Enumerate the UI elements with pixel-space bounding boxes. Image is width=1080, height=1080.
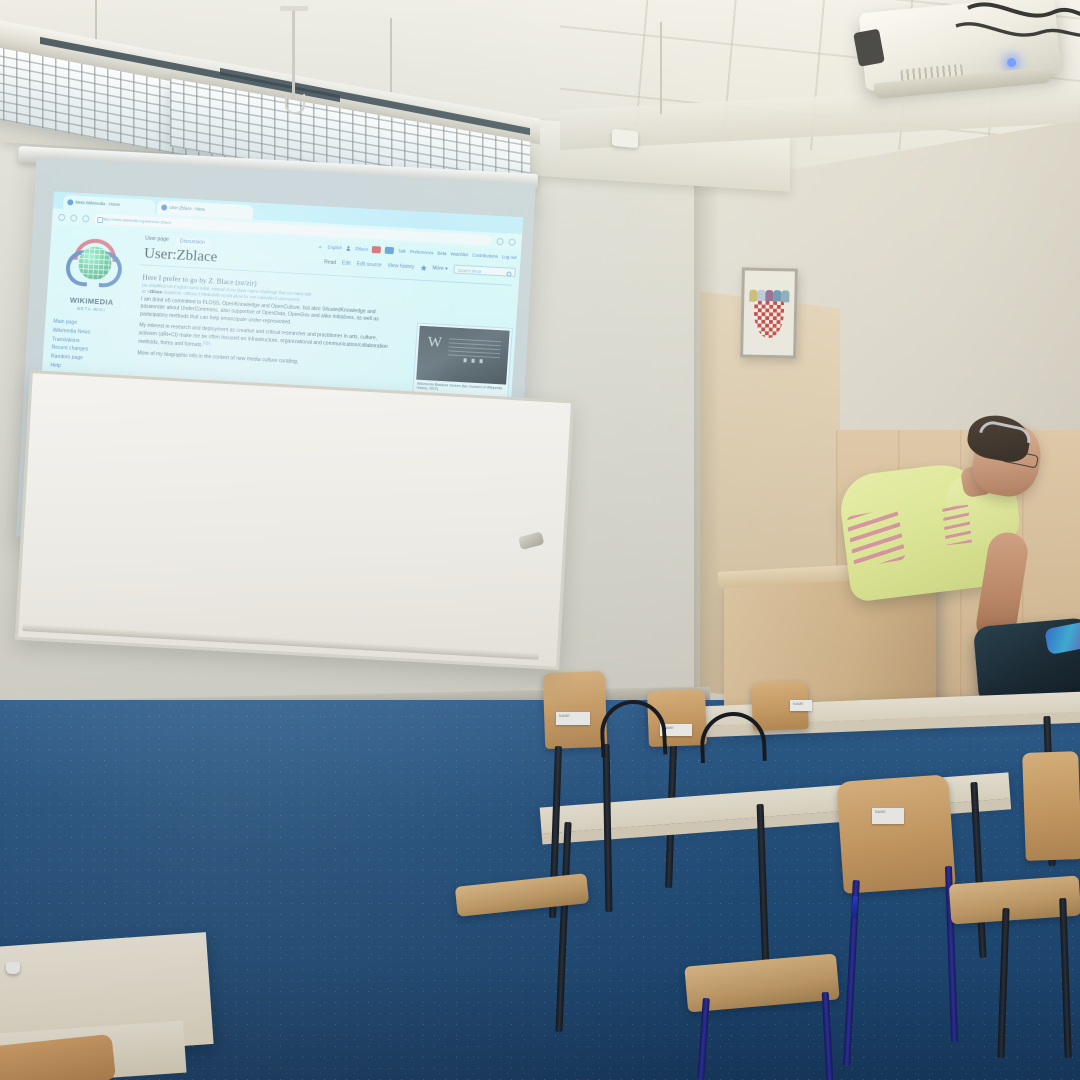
checkerboard-shield: [753, 301, 784, 339]
chair-back-front[interactable]: [836, 774, 956, 894]
chair-name-card-text: NAME: [556, 712, 590, 718]
reference-superscript[interactable]: [1][2]: [203, 341, 211, 345]
light-hanger-wire: [660, 22, 662, 114]
svg-text:A: A: [318, 244, 321, 249]
blackout-text-lines: [448, 337, 501, 358]
language-icon: A: [318, 244, 323, 249]
personal-link-beta[interactable]: Beta: [437, 251, 446, 256]
tab-read[interactable]: Read: [324, 259, 336, 266]
tab-more[interactable]: More ▾: [432, 265, 448, 272]
search-placeholder-text: Search Meta: [457, 268, 481, 274]
backpack-color-panel: [1044, 621, 1080, 655]
chair-name-card: NAME: [872, 808, 904, 824]
tab-edit-source[interactable]: Edit source: [356, 261, 381, 268]
chair-name-card-text: NAME: [790, 700, 812, 706]
tab-edit[interactable]: Edit: [342, 260, 351, 266]
user-avatar-icon: [346, 246, 351, 251]
blackout-dots: [463, 358, 487, 363]
tab-view-history[interactable]: View history: [387, 262, 414, 269]
chair-back[interactable]: [543, 671, 608, 749]
personal-link-username[interactable]: Zblace: [355, 246, 369, 252]
chair-name-card-text: NAME: [872, 808, 904, 814]
reload-icon[interactable]: [82, 215, 89, 222]
tab-user-page[interactable]: User page: [145, 236, 169, 245]
projector-lens: [853, 29, 885, 67]
chair-name-card: NAME: [790, 700, 812, 711]
watch-star-icon[interactable]: [420, 264, 426, 270]
whiteboard: [15, 370, 574, 670]
whiteboard-eraser: [518, 531, 545, 550]
notifications-notice-icon[interactable]: [385, 247, 394, 254]
chair-back-right[interactable]: [1022, 751, 1080, 861]
tshirt-stripe-graphic: [846, 508, 906, 568]
forward-arrow-icon[interactable]: [70, 214, 77, 221]
profile-avatar-icon[interactable]: [508, 238, 515, 245]
favicon: [67, 199, 73, 205]
personal-link-preferences[interactable]: Preferences: [410, 249, 434, 255]
crown-shield-5: [782, 290, 790, 302]
personal-link-contributions[interactable]: Contributions: [472, 253, 498, 259]
cup-on-desk: [6, 962, 20, 974]
personal-link-logout[interactable]: Log out: [502, 254, 517, 260]
corner-shadow: [694, 120, 720, 760]
personal-link-watchlist[interactable]: Watchlist: [450, 251, 468, 257]
light-hanger-wire: [390, 18, 392, 92]
coat-of-arms-frame: [740, 267, 798, 358]
projector-cables: [950, 0, 1080, 70]
browser-tab-title: Meta Wikimedia - Home: [75, 200, 120, 207]
name-note-handle: ~Zblace: [147, 288, 163, 294]
favicon: [161, 204, 167, 210]
screen-pull-handle[interactable]: [292, 10, 295, 98]
wikimedia-logo-icon[interactable]: [63, 235, 125, 296]
blackout-screen-image: W: [416, 326, 509, 385]
thumbnail-blackout[interactable]: W Wikimedia Blackout Screen (fav moment …: [412, 323, 513, 399]
personal-link-talk[interactable]: Talk: [398, 248, 406, 253]
chair-name-card: NAME: [556, 712, 590, 725]
notifications-alert-icon[interactable]: [372, 246, 381, 253]
classroom-scene: Meta Wikimedia - Home User:Zblace - Meta…: [0, 0, 1080, 1080]
browser-tab-title: User:Zblace - Meta: [169, 205, 205, 212]
personal-link-english[interactable]: English: [327, 245, 342, 251]
chevron-down-icon: ▾: [445, 266, 448, 272]
star-bookmark-icon[interactable]: [496, 237, 503, 244]
tshirt-stripe-graphic: [942, 505, 972, 546]
back-arrow-icon[interactable]: [58, 213, 65, 220]
wikipedia-w-letter: W: [427, 334, 442, 352]
ceiling-sensor: [612, 129, 638, 148]
